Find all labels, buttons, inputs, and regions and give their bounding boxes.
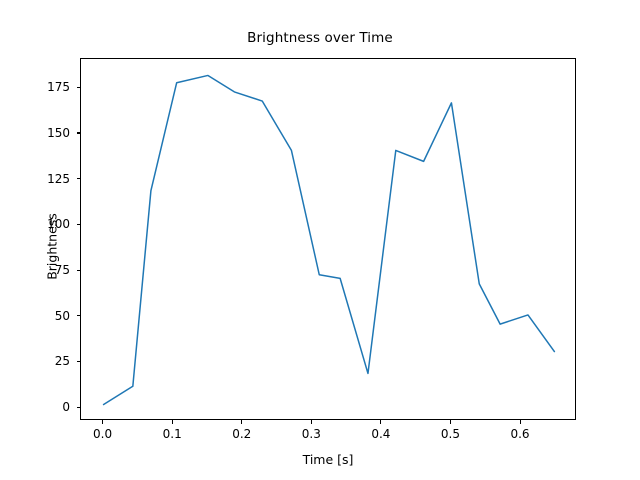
x-tick-label: 0.4 xyxy=(351,428,411,440)
y-tick-label: 0 xyxy=(10,401,70,413)
y-tickmark xyxy=(77,270,81,271)
x-tickmark xyxy=(102,420,103,424)
chart-title: Brightness over Time xyxy=(0,30,640,46)
y-axis-label: Brightness xyxy=(45,187,60,307)
x-tickmark xyxy=(172,420,173,424)
y-tickmark xyxy=(77,178,81,179)
x-tickmark xyxy=(311,420,312,424)
y-tickmark xyxy=(77,132,81,133)
y-tick-label: 50 xyxy=(10,310,70,322)
y-tickmark xyxy=(77,224,81,225)
x-tickmark xyxy=(380,420,381,424)
y-tick-label: 150 xyxy=(10,127,70,139)
y-tickmark xyxy=(77,407,81,408)
y-tick-label: 175 xyxy=(10,81,70,93)
x-tick-label: 0.0 xyxy=(73,428,133,440)
y-tickmark xyxy=(77,87,81,88)
x-tickmark xyxy=(520,420,521,424)
x-tick-label: 0.6 xyxy=(490,428,550,440)
data-line-svg xyxy=(81,59,577,421)
x-tick-label: 0.1 xyxy=(142,428,202,440)
x-tick-label: 0.5 xyxy=(420,428,480,440)
brightness-series-line xyxy=(104,75,555,404)
x-axis-label: Time [s] xyxy=(80,452,576,467)
x-tickmark xyxy=(241,420,242,424)
x-tick-label: 0.3 xyxy=(281,428,341,440)
figure-canvas: Brightness over Time 0255075100125150175… xyxy=(0,0,640,480)
plot-axes-frame xyxy=(80,58,576,420)
y-tick-label: 125 xyxy=(10,173,70,185)
y-tick-label: 25 xyxy=(10,355,70,367)
y-tickmark xyxy=(77,361,81,362)
y-tickmark xyxy=(77,315,81,316)
x-tickmark xyxy=(450,420,451,424)
y-tick-label: 75 xyxy=(10,264,70,276)
y-tick-label: 100 xyxy=(10,218,70,230)
x-tick-label: 0.2 xyxy=(212,428,272,440)
